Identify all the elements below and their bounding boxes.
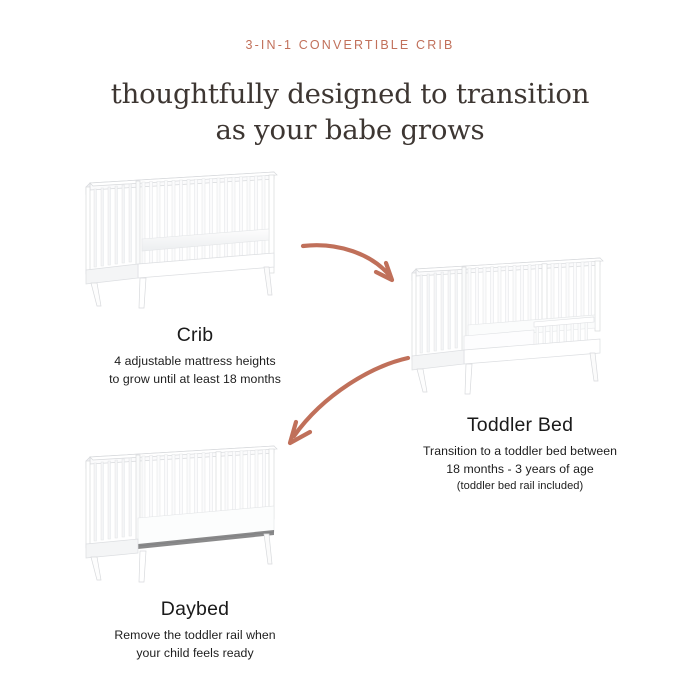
stage-desc-daybed-line-2: your child feels ready	[60, 645, 330, 663]
stage-caption-daybed: Daybed Remove the toddler rail when your…	[60, 596, 330, 662]
stage-title-daybed: Daybed	[60, 596, 330, 622]
stage-desc-toddler-line-2: 18 months - 3 years of age	[375, 461, 665, 479]
stage-desc-crib-line-2: to grow until at least 18 months	[60, 371, 330, 389]
curved-arrow-icon	[298, 232, 418, 294]
crib-photo	[78, 166, 310, 314]
stage-caption-toddler: Toddler Bed Transition to a toddler bed …	[375, 412, 665, 495]
daybed-photo	[78, 440, 310, 588]
page-title: thoughtfully designed to transition as y…	[0, 76, 700, 148]
headline-line-1: thoughtfully designed to transition	[0, 76, 700, 112]
eyebrow-label: 3-IN-1 CONVERTIBLE CRIB	[0, 38, 700, 52]
toddler-bed-photo	[404, 252, 636, 400]
stage-caption-crib: Crib 4 adjustable mattress heights to gr…	[60, 322, 330, 388]
infographic-page: 3-IN-1 CONVERTIBLE CRIB thoughtfully des…	[0, 0, 700, 700]
headline-line-2: as your babe grows	[0, 112, 700, 148]
stage-title-crib: Crib	[60, 322, 330, 348]
stage-desc-toddler-line-1: Transition to a toddler bed between	[375, 443, 665, 461]
stage-desc-crib-line-1: 4 adjustable mattress heights	[60, 353, 330, 371]
stage-desc-daybed-line-1: Remove the toddler rail when	[60, 627, 330, 645]
stage-title-toddler: Toddler Bed	[375, 412, 665, 438]
stage-note-toddler: (toddler bed rail included)	[375, 478, 665, 495]
